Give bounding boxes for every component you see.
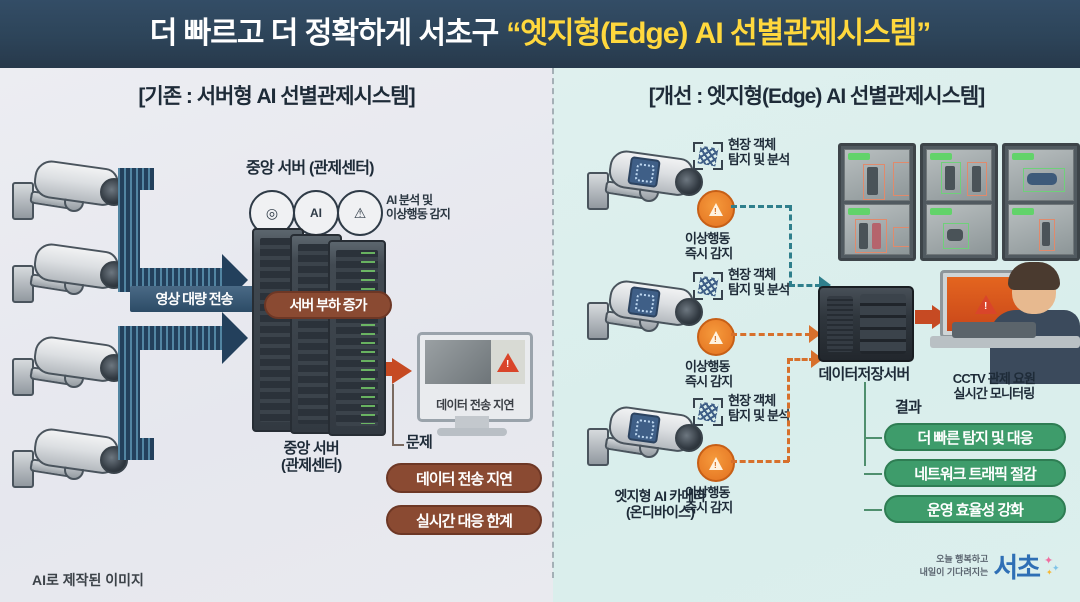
alert-server-icon: ⚠ — [337, 190, 383, 236]
title-primary: 더 빠르고 더 정확하게 서초구 — [150, 17, 499, 50]
result-connector-1 — [864, 437, 882, 439]
alert-triangle-icon — [709, 203, 723, 216]
star-icon: ✦ — [1052, 563, 1060, 574]
title-highlight: “엣지형(Edge) AI 선별관제시스템” — [506, 17, 930, 50]
panel-divider — [552, 68, 556, 578]
operator-caption-line1: CCTV 관제 요원 — [934, 372, 1054, 387]
edge-path-1-horizontal — [731, 205, 791, 208]
ai-analysis-note-line1: AI 분석 및 — [386, 194, 450, 208]
video-transfer-label-text: 영상 대량 전송 — [155, 289, 232, 309]
result-heading-text: 결과 — [895, 399, 921, 416]
anomaly-label-1-line2: 즉시 감지 — [685, 247, 732, 262]
edge-camera-1 — [583, 150, 701, 220]
nas-drive-bays — [860, 294, 906, 354]
operator-caption-line2: 실시간 모니터링 — [934, 387, 1054, 402]
video-flow-band-mid2 — [118, 326, 222, 350]
problem-heading-text: 문제 — [406, 434, 432, 451]
central-server-heading: 중앙 서버 (관제센터) — [246, 160, 374, 178]
object-detection-label-1-line2: 탐지 및 분석 — [728, 153, 789, 168]
logo-stars-icon: ✦ ✦ ✦ — [1044, 554, 1062, 578]
video-wall-cell — [1008, 204, 1074, 256]
object-detection-label-2-line1: 현장 객체 — [728, 268, 789, 283]
detection-tag — [930, 153, 952, 160]
object-detection-label-3: 현장 객체 탐지 및 분석 — [728, 394, 789, 424]
monitor-base — [437, 428, 507, 436]
result-heading: 결과 — [895, 399, 921, 416]
anomaly-label-2: 이상행동 즉시 감지 — [685, 360, 732, 390]
detection-tag — [930, 208, 952, 215]
problem-badge-2-text: 실시간 대응 한계 — [416, 510, 512, 531]
logo-slogan: 오늘 행복하고 내일이 기다려지는 — [920, 553, 989, 577]
video-wall — [838, 143, 1080, 261]
warning-triangle-icon — [497, 353, 519, 372]
logo-wordmark: 서초 — [993, 546, 1039, 585]
anomaly-label-1-line1: 이상행동 — [685, 232, 732, 247]
server-overload-badge-text: 서버 부하 증가 — [289, 295, 366, 315]
rack-status-leds — [361, 252, 375, 424]
person-figure — [859, 223, 868, 249]
problem-badge-1-text: 데이터 전송 지연 — [416, 468, 512, 489]
legacy-system-panel: [기존 : 서버형 AI 선별관제시스템] — [0, 68, 553, 602]
person-figure — [945, 166, 955, 190]
detection-tag — [1012, 208, 1034, 215]
edge-camera-2 — [583, 280, 701, 350]
central-server-rack-front — [328, 240, 386, 436]
ai-analysis-note-line2: 이상행동 감지 — [386, 208, 450, 222]
detection-tag — [1012, 153, 1034, 160]
mesh-glyph — [698, 276, 719, 297]
data-storage-server — [818, 286, 914, 362]
cctv-camera-2 — [8, 243, 126, 313]
detection-box — [893, 162, 910, 196]
result-badge-1: 더 빠른 탐지 및 대응 — [884, 423, 1066, 451]
edge-path-1-vertical — [789, 205, 792, 287]
result-badge-3-text: 운영 효율성 강화 — [927, 499, 1023, 520]
edge-camera-caption-line2: (온디바이스) — [585, 504, 735, 520]
storage-server-caption: 데이터저장서버 — [808, 366, 920, 383]
video-wall-column-1 — [838, 143, 916, 261]
alert-triangle-icon — [709, 457, 723, 470]
detection-box — [893, 227, 910, 247]
central-server-caption: 중앙 서버 (관제센터) — [281, 440, 341, 475]
delay-arrow-tail — [386, 362, 398, 376]
video-wall-column-2 — [920, 143, 998, 261]
object-detection-icon-3 — [693, 398, 723, 426]
problem-heading: 문제 — [406, 434, 432, 451]
vehicle-figure — [947, 229, 963, 241]
nas-to-operator-arrow-tail — [915, 310, 933, 324]
anomaly-label-2-line1: 이상행동 — [685, 360, 732, 375]
operator-caption: CCTV 관제 요원 실시간 모니터링 — [934, 372, 1054, 402]
anomaly-label-2-line2: 즉시 감지 — [685, 375, 732, 390]
vehicle-figure — [1027, 173, 1057, 185]
object-detection-label-1-line1: 현장 객체 — [728, 138, 789, 153]
video-flow-band-vert-bottom — [118, 334, 140, 460]
result-connector-3 — [864, 509, 882, 511]
cctv-camera-1 — [8, 160, 126, 230]
ai-chip-icon — [627, 412, 661, 444]
cctv-camera-3 — [8, 336, 126, 406]
nas-vent — [827, 296, 853, 352]
page-title: 더 빠르고 더 정확하게 서초구“엣지형(Edge) AI 선별관제시스템” — [150, 19, 931, 49]
mesh-glyph — [698, 146, 719, 167]
legacy-panel-title: [기존 : 서버형 AI 선별관제시스템] — [0, 80, 553, 110]
video-wall-cell — [1008, 149, 1074, 201]
person-figure — [1042, 222, 1050, 246]
edge-path-3-horizontal — [731, 460, 789, 463]
anomaly-alert-icon-1 — [697, 190, 735, 228]
video-wall-cell — [926, 149, 992, 201]
object-detection-label-3-line2: 탐지 및 분석 — [728, 409, 789, 424]
monitor-thumbnail — [425, 340, 491, 384]
storage-server-caption-text: 데이터저장서버 — [818, 366, 909, 383]
video-wall-column-3 — [1002, 143, 1080, 261]
object-detection-label-2-line2: 탐지 및 분석 — [728, 283, 789, 298]
seocho-logo: 오늘 행복하고 내일이 기다려지는 서초 ✦ ✦ ✦ — [920, 546, 1062, 585]
anomaly-label-1: 이상행동 즉시 감지 — [685, 232, 732, 262]
title-bar: 더 빠르고 더 정확하게 서초구“엣지형(Edge) AI 선별관제시스템” — [0, 0, 1080, 68]
logo-slogan-line2: 내일이 기다려지는 — [920, 566, 989, 578]
ai-chip-icon — [627, 286, 661, 318]
monitor-screen — [425, 340, 525, 384]
object-detection-icon-1 — [693, 142, 723, 170]
person-figure — [867, 167, 878, 195]
object-detection-icon-2 — [693, 272, 723, 300]
operator-hair — [1008, 262, 1060, 290]
edge-camera-3 — [583, 406, 701, 476]
result-badge-3: 운영 효율성 강화 — [884, 495, 1066, 523]
server-overload-badge: 서버 부하 증가 — [264, 291, 392, 319]
person-figure — [872, 223, 881, 249]
infographic-page: 더 빠르고 더 정확하게 서초구“엣지형(Edge) AI 선별관제시스템” [… — [0, 0, 1080, 602]
video-flow-arrow-mid2 — [222, 312, 248, 364]
edge-camera-caption-line1: 엣지형 AI 카메라 — [585, 488, 735, 504]
mesh-glyph — [698, 402, 719, 423]
anomaly-alert-icon-3 — [697, 444, 735, 482]
edge-path-3-vertical — [787, 358, 790, 462]
problem-connector-vertical — [392, 384, 394, 446]
object-detection-label-2: 현장 객체 탐지 및 분석 — [728, 268, 789, 298]
result-badge-1-text: 더 빠른 탐지 및 대응 — [917, 427, 1032, 448]
object-detection-label-3-line1: 현장 객체 — [728, 394, 789, 409]
result-badge-2-text: 네트워크 트래픽 절감 — [914, 463, 1036, 484]
warning-triangle-icon — [975, 295, 997, 314]
edge-camera-caption: 엣지형 AI 카메라 (온디바이스) — [585, 488, 735, 520]
person-figure — [972, 166, 981, 192]
operator-keyboard — [952, 322, 1036, 338]
camera-lens-icon — [675, 298, 703, 326]
edge-path-2-horizontal — [731, 333, 811, 336]
ai-generated-note: AI로 제작된 이미지 — [32, 570, 144, 590]
video-wall-cell — [844, 204, 910, 256]
delay-monitor: 데이터 전송 지연 — [417, 332, 533, 422]
result-badge-2: 네트워크 트래픽 절감 — [884, 459, 1066, 487]
logo-slogan-line1: 오늘 행복하고 — [920, 553, 989, 565]
video-flow-band-vert-top — [118, 168, 140, 280]
cctv-camera-4 — [8, 428, 126, 498]
camera-lens-icon — [675, 424, 703, 452]
detection-tag — [848, 208, 870, 215]
problem-badge-2: 실시간 대응 한계 — [386, 505, 542, 535]
video-wall-cell — [844, 149, 910, 201]
ai-chip-icon — [627, 156, 661, 188]
video-transfer-label: 영상 대량 전송 — [130, 286, 258, 312]
alert-triangle-icon — [709, 331, 723, 344]
detection-tag — [848, 153, 870, 160]
edge-panel-title: [개선 : 엣지형(Edge) AI 선별관제시스템] — [553, 80, 1080, 110]
central-server-heading-text: 중앙 서버 (관제센터) — [246, 160, 374, 177]
central-server-caption-line2: (관제센터) — [281, 457, 341, 474]
object-detection-label-1: 현장 객체 탐지 및 분석 — [728, 138, 789, 168]
result-connector-vertical — [864, 382, 866, 466]
problem-badge-1: 데이터 전송 지연 — [386, 463, 542, 493]
ai-analysis-note: AI 분석 및 이상행동 감지 — [386, 194, 450, 222]
anomaly-alert-icon-2 — [697, 318, 735, 356]
monitor-caption: 데이터 전송 지연 — [420, 396, 530, 413]
camera-lens-icon — [675, 168, 703, 196]
video-wall-cell — [926, 204, 992, 256]
star-icon: ✦ — [1046, 568, 1053, 577]
edge-path-1-into-nas — [789, 284, 821, 287]
monitor-warning — [491, 340, 525, 384]
central-server-caption-line1: 중앙 서버 — [281, 440, 341, 457]
problem-connector-horizontal — [392, 444, 404, 446]
result-connector-2 — [864, 473, 882, 475]
